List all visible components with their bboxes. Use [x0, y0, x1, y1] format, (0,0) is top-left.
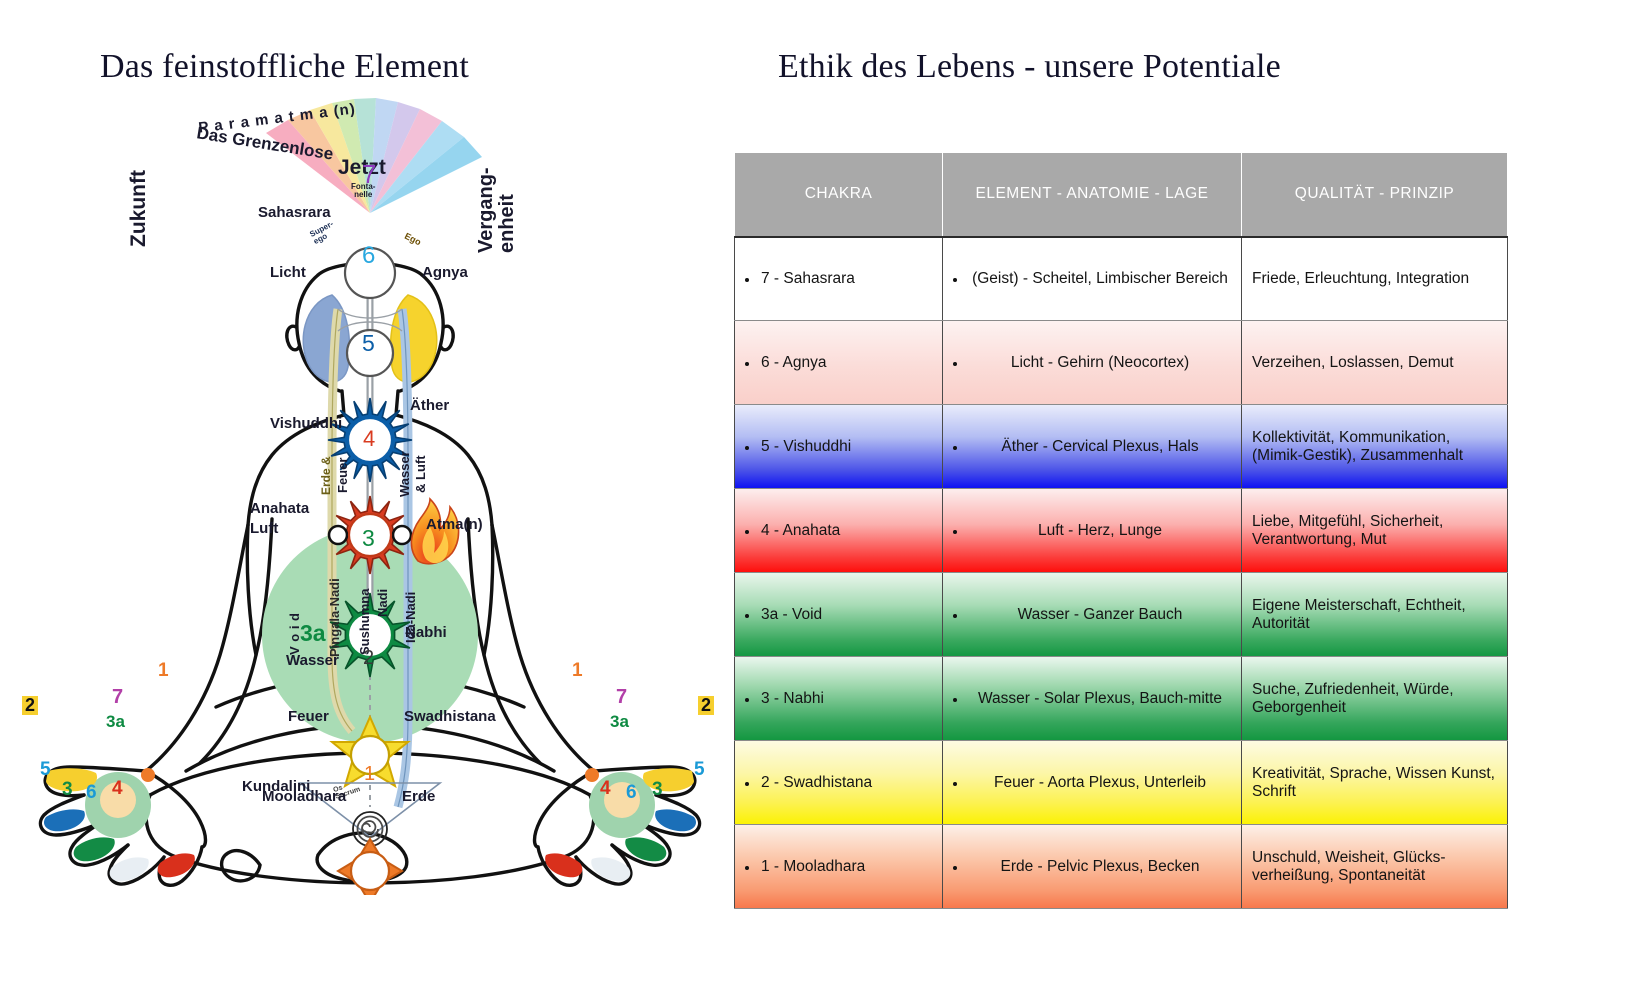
chakra-number-7: 7	[362, 161, 376, 188]
right-hand-finger-5: 5	[694, 760, 705, 780]
cell-element-4-text: Wasser - Ganzer Bauch	[969, 606, 1231, 624]
chakra-number-6: 6	[362, 243, 375, 268]
cell-element-3-text: Luft - Herz, Lunge	[969, 522, 1231, 540]
table-header-row: CHAKRA ELEMENT - ANATOMIE - LAGE QUALITÄ…	[735, 153, 1508, 237]
column-header-chakra: CHAKRA	[735, 153, 943, 237]
cell-quality-4: Eigene Meisterschaft, Echtheit, Autoritä…	[1242, 573, 1508, 657]
right-hand-palm-3a: 3a	[610, 713, 629, 731]
label-void-wasser: Wasser	[286, 653, 339, 669]
cell-chakra-1: 6 - Agnya	[735, 321, 943, 405]
label-atman: Atma(n)	[426, 517, 483, 533]
cell-chakra-3-text: 4 - Anahata	[761, 522, 932, 540]
table-row: 2 - SwadhistanaFeuer - Aorta Plexus, Unt…	[735, 741, 1508, 825]
table-row: 7 - Sahasrara(Geist) - Scheitel, Limbisc…	[735, 237, 1508, 321]
right-hand-thumb-2: 2	[698, 696, 714, 715]
label-aether: Äther	[410, 398, 449, 414]
bullet-icon	[745, 782, 749, 786]
cell-chakra-7: 1 - Mooladhara	[735, 825, 943, 909]
table-row: 6 - AgnyaLicht - Gehirn (Neocortex)Verze…	[735, 321, 1508, 405]
label-pingala-nadi: Pingala-Nadi	[328, 578, 342, 657]
bullet-icon	[745, 866, 749, 870]
cell-element-4: Wasser - Ganzer Bauch	[943, 573, 1242, 657]
cell-chakra-0: 7 - Sahasrara	[735, 237, 943, 321]
page-title-left: Das feinstoffliche Element	[100, 48, 469, 86]
label-sushumna-nadi: Nadi	[376, 589, 390, 617]
bullet-icon	[745, 446, 749, 450]
label-zukunft: Zukunft	[128, 170, 150, 247]
bullet-icon	[953, 362, 957, 366]
label-swadhistana: Swadhistana	[404, 709, 496, 725]
bullet-icon	[745, 278, 749, 282]
cell-element-6-text: Feuer - Aorta Plexus, Unterleib	[969, 774, 1231, 792]
cell-chakra-5-text: 3 - Nabhi	[761, 690, 932, 708]
left-hand-palm-7: 7	[112, 687, 123, 708]
bullet-icon	[745, 362, 749, 366]
column-header-quality: QUALITÄT - PRINZIP	[1242, 153, 1508, 237]
cell-element-2: Äther - Cervical Plexus, Hals	[943, 405, 1242, 489]
label-nabhi: Nabhi	[405, 625, 447, 641]
chakra-number-1: 1	[364, 764, 375, 785]
anahata-left-circle	[329, 526, 347, 544]
chakra-number-3: 3	[362, 526, 375, 550]
table-row: 1 - MooladharaErde - Pelvic Plexus, Beck…	[735, 825, 1508, 909]
cell-element-6: Feuer - Aorta Plexus, Unterleib	[943, 741, 1242, 825]
left-hand-finger-6: 6	[86, 783, 97, 803]
chakra-number-5: 5	[362, 331, 375, 355]
bullet-icon	[745, 530, 749, 534]
left-hand-finger-4: 4	[112, 779, 123, 799]
label-erde-und: Erde &	[320, 456, 333, 495]
table-row: 3 - NabhiWasser - Solar Plexus, Bauch-mi…	[735, 657, 1508, 741]
cell-chakra-3: 4 - Anahata	[735, 489, 943, 573]
left-hand-dot-1: 1	[158, 661, 169, 681]
left-hand-finger-5: 5	[40, 760, 51, 780]
chakra-table-container: CHAKRA ELEMENT - ANATOMIE - LAGE QUALITÄ…	[734, 152, 1507, 892]
vergangenheit-text: Vergang- enheit	[475, 167, 518, 253]
cell-chakra-7-text: 1 - Mooladhara	[761, 858, 932, 876]
right-hand-palm-7: 7	[616, 687, 627, 708]
label-agnya: Agnya	[422, 265, 468, 281]
cell-chakra-0-text: 7 - Sahasrara	[761, 270, 932, 288]
bullet-icon	[953, 530, 957, 534]
label-feuer-2: Feuer	[288, 709, 329, 725]
cell-element-7: Erde - Pelvic Plexus, Becken	[943, 825, 1242, 909]
page-title-right: Ethik des Lebens - unsere Potentiale	[778, 48, 1281, 86]
bullet-icon	[953, 446, 957, 450]
label-feuer-nadi: Feuer	[336, 458, 350, 493]
label-mooladhara: Mooladhara	[262, 789, 346, 805]
bullet-icon	[953, 278, 957, 282]
table-row: 3a - VoidWasser - Ganzer BauchEigene Mei…	[735, 573, 1508, 657]
cell-chakra-2: 5 - Vishuddhi	[735, 405, 943, 489]
cell-quality-6: Kreativität, Sprache, Wissen Kunst, Schr…	[1242, 741, 1508, 825]
bullet-icon	[745, 698, 749, 702]
cell-element-2-text: Äther - Cervical Plexus, Hals	[969, 438, 1231, 456]
label-erde: Erde	[402, 789, 435, 805]
right-hand-finger-4: 4	[600, 779, 611, 799]
cell-chakra-2-text: 5 - Vishuddhi	[761, 438, 932, 456]
bullet-icon	[953, 614, 957, 618]
right-hand-finger-3: 3	[652, 780, 663, 800]
bullet-icon	[953, 782, 957, 786]
diagram-artwork	[0, 95, 720, 895]
label-anahata: Anahata	[250, 501, 309, 517]
label-vergangenheit: Vergang- enheit	[476, 167, 518, 253]
cell-chakra-1-text: 6 - Agnya	[761, 354, 932, 372]
cell-element-5: Wasser - Solar Plexus, Bauch-mitte	[943, 657, 1242, 741]
left-hand-finger-3: 3	[62, 780, 73, 800]
cell-quality-3: Liebe, Mitgefühl, Sicherheit, Verantwort…	[1242, 489, 1508, 573]
right-hand-finger-6: 6	[626, 783, 637, 803]
cell-chakra-6-text: 2 - Swadhistana	[761, 774, 932, 792]
left-hand-thumb-2: 2	[22, 696, 38, 715]
chakra-table: CHAKRA ELEMENT - ANATOMIE - LAGE QUALITÄ…	[734, 152, 1508, 909]
table-row: 4 - AnahataLuft - Herz, LungeLiebe, Mitg…	[735, 489, 1508, 573]
label-vishuddhi: Vishuddhi	[270, 416, 342, 432]
cell-element-0-text: (Geist) - Scheitel, Limbischer Bereich	[969, 270, 1231, 288]
chakra-number-4: 4	[363, 427, 375, 450]
label-sushumna: Sushumna	[358, 589, 372, 655]
cell-element-0: (Geist) - Scheitel, Limbischer Bereich	[943, 237, 1242, 321]
cell-chakra-5: 3 - Nabhi	[735, 657, 943, 741]
label-und-luft: & Luft	[414, 455, 428, 493]
column-header-element: ELEMENT - ANATOMIE - LAGE	[943, 153, 1242, 237]
subtle-body-diagram: P a r a m a t m a (n) Das Grenzenlose Je…	[0, 95, 720, 895]
label-sahasrara: Sahasrara	[258, 205, 331, 221]
bullet-icon	[953, 698, 957, 702]
cell-chakra-6: 2 - Swadhistana	[735, 741, 943, 825]
bullet-icon	[953, 866, 957, 870]
label-wasser-nadi: Wasser	[398, 451, 412, 497]
bullet-icon	[745, 614, 749, 618]
cell-element-7-text: Erde - Pelvic Plexus, Becken	[969, 858, 1231, 876]
cell-quality-7: Unschuld, Weisheit, Glücks-verheißung, S…	[1242, 825, 1508, 909]
cell-element-1-text: Licht - Gehirn (Neocortex)	[969, 354, 1231, 372]
cell-quality-5: Suche, Zufriedenheit, Würde, Geborgenhei…	[1242, 657, 1508, 741]
cell-chakra-4-text: 3a - Void	[761, 606, 932, 624]
cell-element-1: Licht - Gehirn (Neocortex)	[943, 321, 1242, 405]
cell-element-3: Luft - Herz, Lunge	[943, 489, 1242, 573]
chakra-number-2: 2	[363, 648, 374, 669]
cell-quality-0: Friede, Erleuchtung, Integration	[1242, 237, 1508, 321]
table-row: 5 - VishuddhiÄther - Cervical Plexus, Ha…	[735, 405, 1508, 489]
left-hand-palm-3a: 3a	[106, 713, 125, 731]
table-body: 7 - Sahasrara(Geist) - Scheitel, Limbisc…	[735, 237, 1508, 909]
label-void-number: 3a	[300, 621, 326, 645]
anahata-right-circle	[393, 526, 411, 544]
cell-chakra-4: 3a - Void	[735, 573, 943, 657]
cell-quality-1: Verzeihen, Loslassen, Demut	[1242, 321, 1508, 405]
right-hand-dot-1: 1	[572, 661, 583, 681]
label-licht: Licht	[270, 265, 306, 281]
label-luft: Luft	[250, 521, 278, 537]
cell-element-5-text: Wasser - Solar Plexus, Bauch-mitte	[969, 690, 1231, 708]
cell-quality-2: Kollektivität, Kommunikation, (Mimik-Ges…	[1242, 405, 1508, 489]
